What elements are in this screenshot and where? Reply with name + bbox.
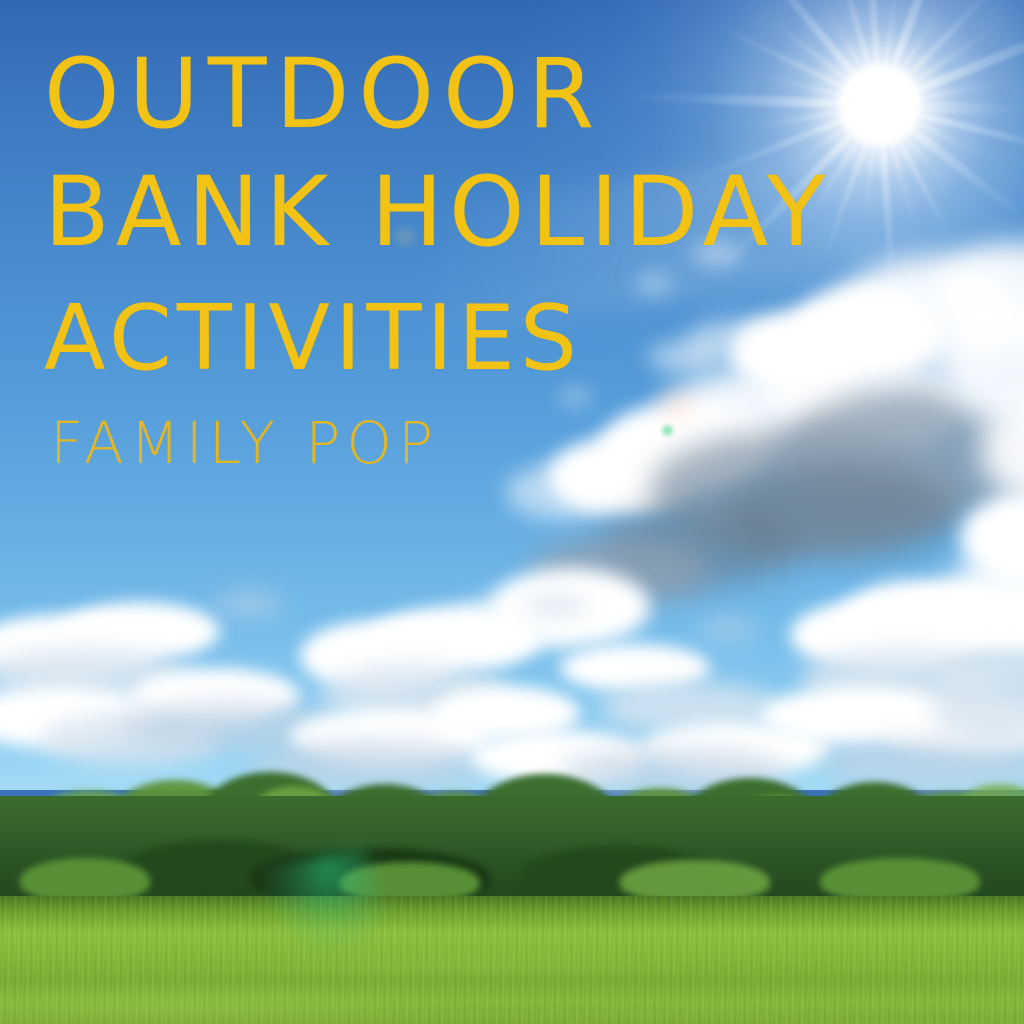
title-block: OUTDOOR BANK HOLIDAY ACTIVITIES FAMILY P… — [44, 46, 944, 472]
poster-canvas: OUTDOOR BANK HOLIDAY ACTIVITIES FAMILY P… — [0, 0, 1024, 1024]
mow-stripes — [0, 896, 1024, 1024]
title-line-1: OUTDOOR — [44, 46, 944, 150]
treeline — [0, 762, 1024, 912]
title-line-2: BANK HOLIDAY — [44, 164, 944, 278]
title-line-3: ACTIVITIES — [44, 294, 944, 398]
grass-field — [0, 896, 1024, 1024]
subtitle: FAMILY POP — [50, 414, 944, 472]
